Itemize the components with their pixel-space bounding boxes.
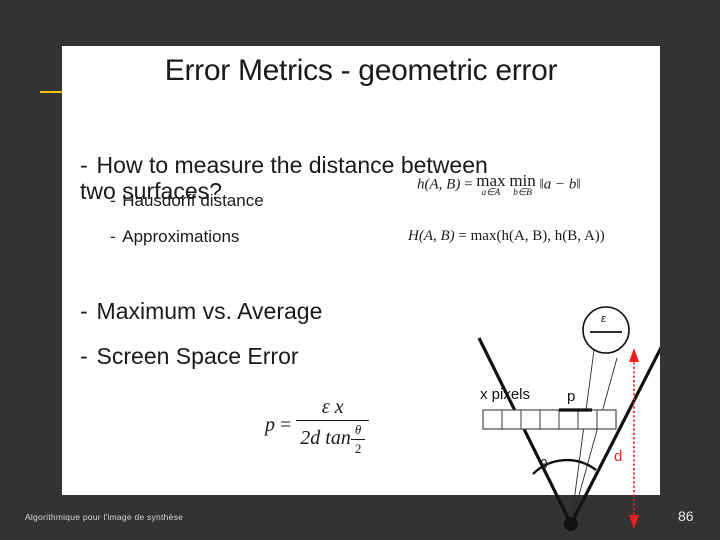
screen-space-error-frustum-diagram: x pixels p θ d ε bbox=[410, 270, 660, 540]
min-operator-subscript: b∈B bbox=[509, 189, 535, 199]
slide-canvas: Error Metrics - geometric error -How to … bbox=[62, 46, 660, 495]
epsilon-circle bbox=[583, 307, 629, 353]
pixel-ray-left bbox=[571, 350, 594, 524]
page-title: Error Metrics - geometric error bbox=[62, 54, 660, 88]
bullet-marker: - bbox=[110, 191, 122, 211]
formula-hausdorff-symmetric: H(A, B) = max(h(A, B), h(B, A)) bbox=[408, 228, 605, 245]
bullet-marker: - bbox=[80, 152, 97, 178]
formula-hausdorff-one-sided: h(A, B) = max a∈A min b∈B ‖a − b‖ bbox=[417, 172, 581, 199]
formula-fraction: ε x 2d tan θ 2 bbox=[296, 396, 369, 457]
formula-rhs: ‖a − b‖ bbox=[540, 177, 581, 193]
label-epsilon: ε bbox=[601, 313, 606, 325]
distance-arrow-head-top bbox=[629, 348, 639, 362]
frustum-svg bbox=[410, 270, 660, 540]
formula-lhs: h(A, B) bbox=[417, 177, 460, 193]
viewpoint-apex bbox=[564, 517, 578, 531]
bullet-label: Screen Space Error bbox=[97, 343, 299, 369]
footer-caption: Algorithmique pour l'image de synthèse bbox=[25, 512, 183, 522]
formula-equals: = bbox=[280, 414, 291, 436]
pixel-strip bbox=[483, 410, 616, 429]
formula-screen-space-error: p = ε x 2d tan θ 2 bbox=[265, 396, 369, 457]
bullet-marker: - bbox=[110, 227, 122, 247]
formula-rhs: max(h(A, B), h(B, A)) bbox=[471, 228, 605, 244]
formula-lhs: p bbox=[265, 414, 275, 436]
fraction-numerator: ε x bbox=[296, 396, 369, 420]
max-operator-subscript: a∈A bbox=[476, 189, 505, 199]
distance-arrow-head-bottom bbox=[629, 515, 639, 529]
max-operator-label: max bbox=[476, 172, 505, 189]
bullet-item-3: -Approximations bbox=[110, 227, 239, 247]
max-operator: max a∈A bbox=[476, 172, 505, 199]
bullet-marker: - bbox=[80, 343, 97, 369]
formula-equals: = bbox=[458, 228, 466, 244]
label-pixel-width-p: p bbox=[567, 388, 575, 405]
bullet-label: Approximations bbox=[122, 227, 239, 246]
fraction-denominator: 2d tan θ 2 bbox=[296, 420, 369, 457]
inner-numerator: θ bbox=[351, 422, 366, 439]
inner-denominator: 2 bbox=[351, 439, 366, 457]
min-operator: min b∈B bbox=[509, 172, 535, 199]
label-x-pixels: x pixels bbox=[480, 386, 530, 403]
frustum-left-edge bbox=[479, 338, 571, 524]
denominator-inner-fraction: θ 2 bbox=[351, 422, 366, 457]
label-distance-d: d bbox=[614, 448, 622, 465]
page-number: 86 bbox=[678, 508, 694, 524]
bullet-label: Hausdorff distance bbox=[122, 191, 263, 210]
formula-equals: = bbox=[464, 177, 472, 193]
bullet-item-5: -Screen Space Error bbox=[80, 317, 299, 369]
min-operator-label: min bbox=[509, 172, 535, 189]
bullet-item-2: -Hausdorff distance bbox=[110, 191, 264, 211]
pixel-ray-right bbox=[571, 358, 617, 524]
formula-lhs: H(A, B) bbox=[408, 228, 455, 244]
slide-viewer: Error Metrics - geometric error -How to … bbox=[0, 0, 720, 540]
frustum-right-edge bbox=[571, 338, 660, 524]
distance-arrow bbox=[629, 348, 639, 529]
denominator-lead: 2d tan bbox=[300, 427, 351, 449]
label-theta: θ bbox=[540, 456, 548, 472]
title-accent-line bbox=[40, 91, 62, 93]
pixel-strip-outline bbox=[483, 410, 616, 429]
